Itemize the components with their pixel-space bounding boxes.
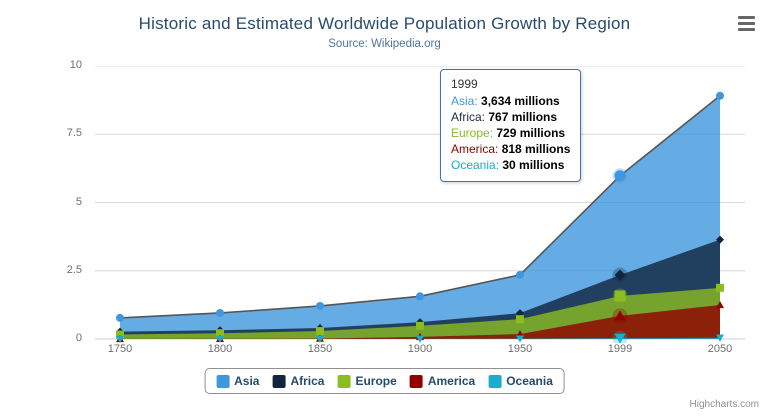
legend-label: Asia bbox=[234, 374, 259, 388]
highcharts-container: Historic and Estimated Worldwide Populat… bbox=[0, 0, 769, 416]
x-axis-tick-label: 1750 bbox=[90, 343, 150, 355]
series-canvas bbox=[95, 66, 745, 343]
point-marker-asia[interactable] bbox=[416, 292, 424, 300]
tooltip-series-name: Oceania: bbox=[451, 158, 502, 172]
legend-swatch-icon bbox=[410, 375, 423, 388]
x-axis-tick-label: 1999 bbox=[590, 343, 650, 355]
legend-item-europe[interactable]: Europe bbox=[337, 374, 396, 388]
point-marker-asia[interactable] bbox=[216, 309, 224, 317]
legend-label: Africa bbox=[290, 374, 324, 388]
tooltip-series-name: Europe: bbox=[451, 126, 496, 140]
tooltip-row: Africa: 767 millions bbox=[451, 109, 570, 125]
x-axis-tick-label: 1900 bbox=[390, 343, 450, 355]
hamburger-menu-icon[interactable] bbox=[733, 12, 759, 35]
point-marker-europe[interactable] bbox=[615, 290, 626, 301]
y-axis-title: Billions bbox=[0, 145, 3, 185]
point-marker-europe[interactable] bbox=[416, 322, 424, 330]
tooltip-row: Oceania: 30 millions bbox=[451, 157, 570, 173]
tooltip-series-value: 818 millions bbox=[502, 142, 571, 156]
point-marker-asia[interactable] bbox=[116, 314, 124, 322]
tooltip-row: Europe: 729 millions bbox=[451, 125, 570, 141]
tooltip-header: 1999 bbox=[451, 77, 570, 91]
x-axis-tick-label: 2050 bbox=[690, 343, 750, 355]
y-axis-tick-label: 2.5 bbox=[48, 264, 82, 276]
legend-item-america[interactable]: America bbox=[410, 374, 475, 388]
legend-item-oceania[interactable]: Oceania bbox=[488, 374, 553, 388]
tooltip-series-value: 729 millions bbox=[496, 126, 565, 140]
legend-label: Oceania bbox=[506, 374, 553, 388]
point-marker-asia[interactable] bbox=[316, 302, 324, 310]
tooltip-series-value: 30 millions bbox=[502, 158, 564, 172]
chart-legend[interactable]: AsiaAfricaEuropeAmericaOceania bbox=[204, 368, 565, 394]
tooltip-rows: Asia: 3,634 millionsAfrica: 767 millions… bbox=[451, 93, 570, 173]
menu-bar-2 bbox=[738, 22, 755, 25]
legend-swatch-icon bbox=[272, 375, 285, 388]
legend-swatch-icon bbox=[216, 375, 229, 388]
legend-label: Europe bbox=[355, 374, 396, 388]
x-axis-tick-label: 1800 bbox=[190, 343, 250, 355]
tooltip-series-name: Africa: bbox=[451, 110, 488, 124]
tooltip-series-value: 3,634 millions bbox=[481, 94, 560, 108]
legend-item-asia[interactable]: Asia bbox=[216, 374, 259, 388]
x-axis-tick-label: 1950 bbox=[490, 343, 550, 355]
legend-swatch-icon bbox=[337, 375, 350, 388]
legend-label: America bbox=[428, 374, 475, 388]
legend-item-africa[interactable]: Africa bbox=[272, 374, 324, 388]
legend-swatch-icon bbox=[488, 375, 501, 388]
x-axis-tick-label: 1850 bbox=[290, 343, 350, 355]
tooltip-row: America: 818 millions bbox=[451, 141, 570, 157]
y-axis-tick-label: 0 bbox=[48, 332, 82, 344]
tooltip-row: Asia: 3,634 millions bbox=[451, 93, 570, 109]
point-marker-europe[interactable] bbox=[716, 284, 724, 292]
tooltip-series-name: America: bbox=[451, 142, 502, 156]
series-tooltip: 1999 Asia: 3,634 millionsAfrica: 767 mil… bbox=[440, 69, 581, 182]
menu-bar-3 bbox=[738, 28, 755, 31]
point-marker-europe[interactable] bbox=[316, 327, 324, 335]
chart-title: Historic and Estimated Worldwide Populat… bbox=[0, 14, 769, 34]
y-axis-tick-label: 5 bbox=[48, 196, 82, 208]
tooltip-series-name: Asia: bbox=[451, 94, 481, 108]
point-marker-asia[interactable] bbox=[516, 271, 524, 279]
y-axis-tick-label: 10 bbox=[48, 59, 82, 71]
point-marker-europe[interactable] bbox=[516, 315, 524, 323]
credits-label[interactable]: Highcharts.com bbox=[690, 399, 759, 410]
point-marker-asia[interactable] bbox=[716, 92, 724, 100]
menu-bar-1 bbox=[738, 16, 755, 19]
plot-area bbox=[95, 66, 745, 339]
chart-subtitle: Source: Wikipedia.org bbox=[0, 38, 769, 50]
y-axis-tick-label: 7.5 bbox=[48, 127, 82, 139]
tooltip-series-value: 767 millions bbox=[488, 110, 557, 124]
